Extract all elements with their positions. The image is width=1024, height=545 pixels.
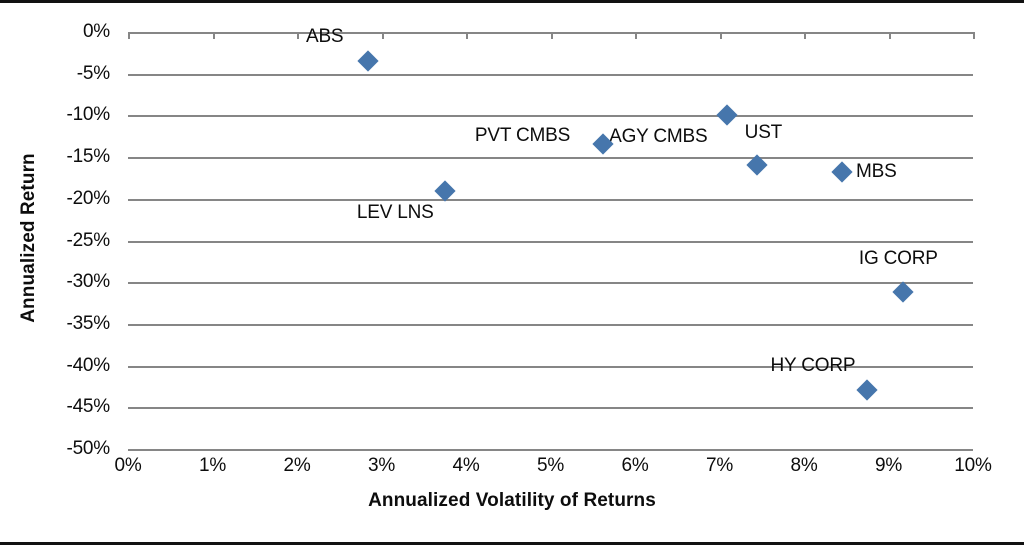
data-point-marker[interactable] (831, 162, 852, 183)
x-axis-tick (635, 32, 637, 39)
x-axis-tick (720, 32, 722, 39)
data-point-marker[interactable] (357, 51, 378, 72)
x-axis-tick (382, 32, 384, 39)
x-axis-tick-label: 10% (954, 455, 991, 477)
x-axis-tick (973, 32, 975, 39)
y-axis-tick-label: -10% (66, 104, 110, 126)
gridline-horizontal (128, 324, 973, 326)
gridline-horizontal (128, 157, 973, 159)
x-axis-tick-label: 0% (114, 455, 141, 477)
gridline-horizontal (128, 407, 973, 409)
x-axis-tick-label: 6% (621, 455, 648, 477)
chart-page: Annualized Return 0%-5%-10%-15%-20%-25%-… (0, 0, 1024, 545)
x-axis-tick-label: 1% (199, 455, 226, 477)
x-axis-tick (804, 32, 806, 39)
gridline-horizontal (128, 74, 973, 76)
y-axis-tick-label: -30% (66, 271, 110, 293)
y-axis-tick-label: -5% (77, 63, 110, 85)
x-axis-tick (889, 32, 891, 39)
scatter-chart: Annualized Return 0%-5%-10%-15%-20%-25%-… (0, 3, 1024, 545)
y-axis-tick-label: -40% (66, 355, 110, 377)
y-axis-tick-label: -50% (66, 438, 110, 460)
data-point-label: PVT CMBS (475, 125, 570, 147)
x-axis-tick (551, 32, 553, 39)
data-point-label: MBS (856, 161, 897, 183)
x-axis-tick-label: 7% (706, 455, 733, 477)
x-axis-tick (128, 32, 130, 39)
data-point-label: HY CORP (771, 355, 856, 377)
y-axis-tick-label: -45% (66, 396, 110, 418)
gridline-horizontal (128, 199, 973, 201)
data-point-label: UST (745, 122, 782, 144)
y-axis-tick-labels: 0%-5%-10%-15%-20%-25%-30%-35%-40%-45%-50… (0, 32, 118, 449)
data-point-label: ABS (306, 26, 343, 48)
x-axis-tick (466, 32, 468, 39)
gridline-horizontal (128, 241, 973, 243)
y-axis-tick-label: -15% (66, 146, 110, 168)
x-axis-tick-label: 9% (875, 455, 902, 477)
plot-area: ABSLEV LNSPVT CMBSAGY CMBSUSTMBSIG CORPH… (128, 32, 973, 449)
x-axis-tick-label: 4% (452, 455, 479, 477)
y-axis-tick-label: -20% (66, 188, 110, 210)
gridline-horizontal (128, 282, 973, 284)
x-axis-tick-label: 5% (537, 455, 564, 477)
data-point-marker[interactable] (856, 379, 877, 400)
x-axis-tick-label: 2% (283, 455, 310, 477)
data-point-marker[interactable] (892, 282, 913, 303)
x-axis-tick-label: 3% (368, 455, 395, 477)
x-axis-tick (297, 32, 299, 39)
x-axis-tick-labels: 0%1%2%3%4%5%6%7%8%9%10% (128, 455, 973, 485)
y-axis-tick-label: -25% (66, 230, 110, 252)
data-point-label: LEV LNS (357, 202, 434, 224)
x-axis-tick (213, 32, 215, 39)
data-point-label: AGY CMBS (609, 126, 707, 148)
gridline-horizontal (128, 449, 973, 451)
data-point-marker[interactable] (716, 105, 737, 126)
y-axis-tick-label: 0% (83, 21, 110, 43)
x-axis-tick-label: 8% (790, 455, 817, 477)
x-axis-title: Annualized Volatility of Returns (0, 490, 1024, 512)
gridline-horizontal (128, 115, 973, 117)
data-point-label: IG CORP (859, 248, 938, 270)
y-axis-tick-label: -35% (66, 313, 110, 335)
